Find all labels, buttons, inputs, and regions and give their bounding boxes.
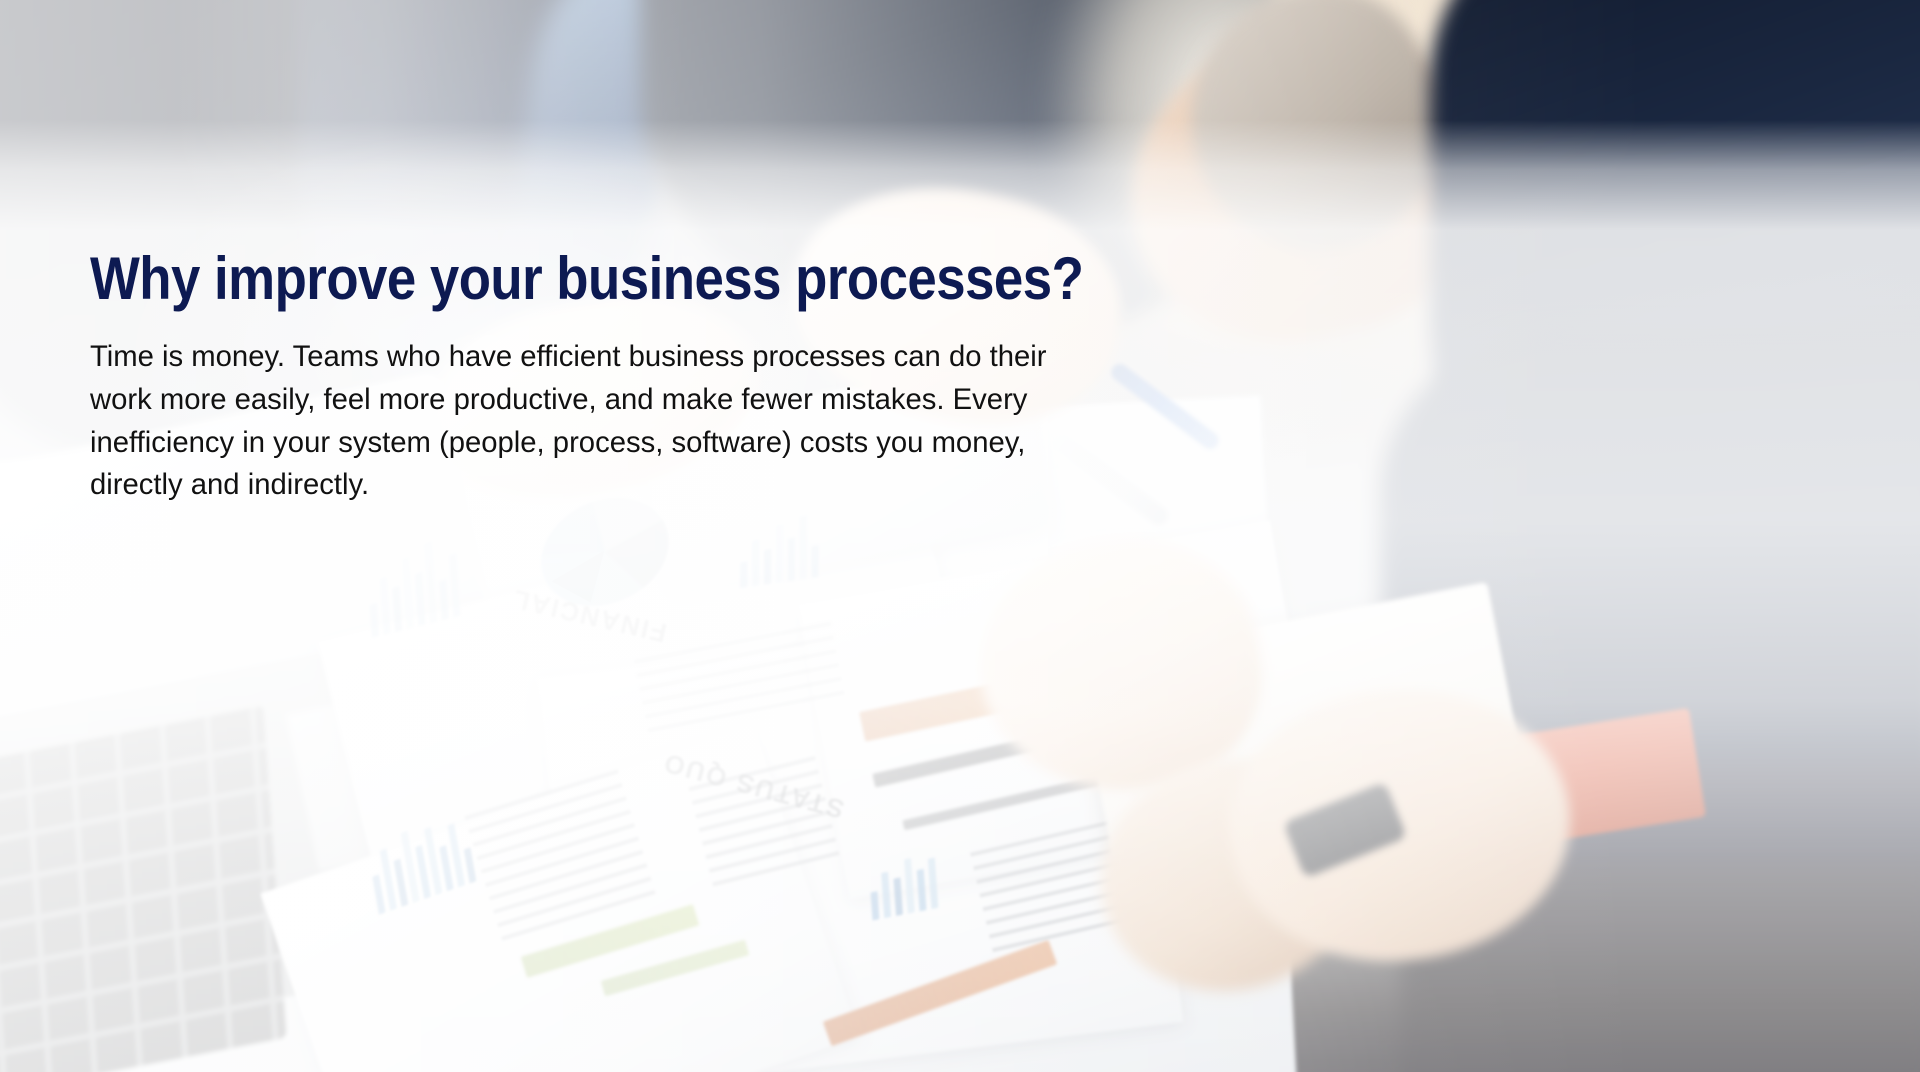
hero-banner: FINANCIAL STATUS QUO Why improve your bu…: [0, 0, 1920, 1072]
hero-text-block: Why improve your business processes? Tim…: [90, 248, 1100, 507]
page-title: Why improve your business processes?: [90, 248, 979, 310]
hero-description: Time is money. Teams who have efficient …: [90, 336, 1070, 506]
